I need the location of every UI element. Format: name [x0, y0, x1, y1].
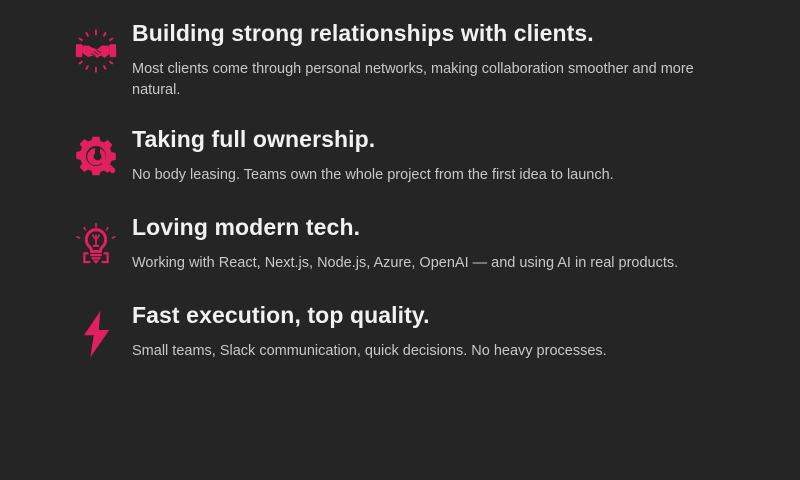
feature-icon-container: [60, 20, 132, 74]
feature-item: Fast execution, top quality. Small teams…: [60, 302, 740, 362]
gear-wrench-icon: [74, 134, 118, 178]
feature-text: Taking full ownership. No body leasing. …: [132, 126, 740, 186]
feature-description: Working with React, Next.js, Node.js, Az…: [132, 253, 712, 274]
feature-description: Most clients come through personal netwo…: [132, 59, 730, 100]
feature-item: Taking full ownership. No body leasing. …: [60, 126, 740, 186]
feature-title: Fast execution, top quality.: [132, 302, 730, 329]
feature-icon-container: [60, 214, 132, 268]
feature-text: Fast execution, top quality. Small teams…: [132, 302, 740, 362]
feature-item: Loving modern tech. Working with React, …: [60, 214, 740, 274]
feature-list-slide: Building strong relationships with clien…: [0, 0, 800, 480]
lightning-bolt-icon: [76, 310, 116, 358]
feature-description: No body leasing. Teams own the whole pro…: [132, 165, 722, 186]
handshake-icon: [73, 28, 119, 74]
feature-title: Building strong relationships with clien…: [132, 20, 730, 47]
lightbulb-idea-icon: [74, 222, 118, 268]
feature-description: Small teams, Slack communication, quick …: [132, 341, 722, 362]
feature-icon-container: [60, 302, 132, 358]
feature-title: Taking full ownership.: [132, 126, 730, 153]
feature-title: Loving modern tech.: [132, 214, 730, 241]
feature-text: Building strong relationships with clien…: [132, 20, 740, 100]
feature-item: Building strong relationships with clien…: [60, 20, 740, 100]
feature-text: Loving modern tech. Working with React, …: [132, 214, 740, 274]
feature-icon-container: [60, 126, 132, 178]
